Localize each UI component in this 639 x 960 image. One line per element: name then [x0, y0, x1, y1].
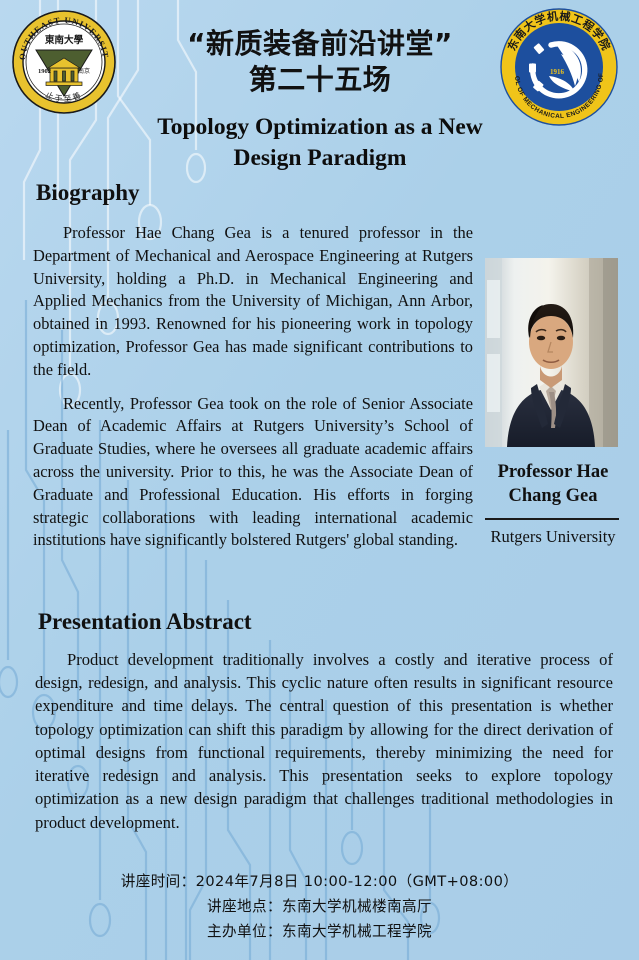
lecture-host: 主办单位：东南大学机械工程学院 [0, 919, 639, 944]
biography-paragraph-2: Recently, Professor Gea took on the role… [33, 393, 473, 553]
speaker-name-line-2: Chang Gea [483, 484, 623, 508]
english-title: Topology Optimization as a New Design Pa… [118, 112, 522, 173]
biography-heading: Biography [36, 180, 140, 206]
southeast-university-seal-logo: SOUTHEAST UNIVERSITY 止于至善 東南大學 1902 南京 [12, 10, 116, 114]
biography-body: Professor Hae Chang Gea is a tenured pro… [33, 222, 473, 563]
biography-paragraph-1: Professor Hae Chang Gea is a tenured pro… [33, 222, 473, 382]
speaker-divider [485, 518, 619, 520]
chinese-title-line-1: “新质装备前沿讲堂” [120, 26, 520, 62]
chinese-title-line-2: 第二十五场 [120, 62, 520, 98]
svg-text:1916: 1916 [550, 68, 565, 76]
poster-root: SOUTHEAST UNIVERSITY 止于至善 東南大學 1902 南京 东… [0, 0, 639, 960]
speaker-name: Professor Hae Chang Gea [483, 460, 623, 508]
lecture-location: 讲座地点：东南大学机械楼南高厅 [0, 894, 639, 919]
abstract-heading: Presentation Abstract [38, 609, 252, 635]
svg-text:東南大學: 東南大學 [45, 34, 84, 46]
lecture-time: 讲座时间：2024年7月8日 10:00-12:00（GMT+08:00） [0, 869, 639, 894]
abstract-paragraph: Product development traditionally involv… [35, 648, 613, 834]
event-details-footer: 讲座时间：2024年7月8日 10:00-12:00（GMT+08:00） 讲座… [0, 869, 639, 944]
english-title-line-2: Design Paradigm [118, 143, 522, 174]
english-title-line-1: Topology Optimization as a New [118, 112, 522, 143]
chinese-title: “新质装备前沿讲堂” 第二十五场 [120, 26, 520, 99]
speaker-affiliation: Rutgers University [483, 527, 623, 547]
svg-text:南京: 南京 [78, 67, 90, 75]
svg-text:1902: 1902 [38, 68, 51, 75]
speaker-photo [485, 258, 618, 447]
speaker-name-line-1: Professor Hae [483, 460, 623, 484]
abstract-body: Product development traditionally involv… [35, 648, 613, 834]
